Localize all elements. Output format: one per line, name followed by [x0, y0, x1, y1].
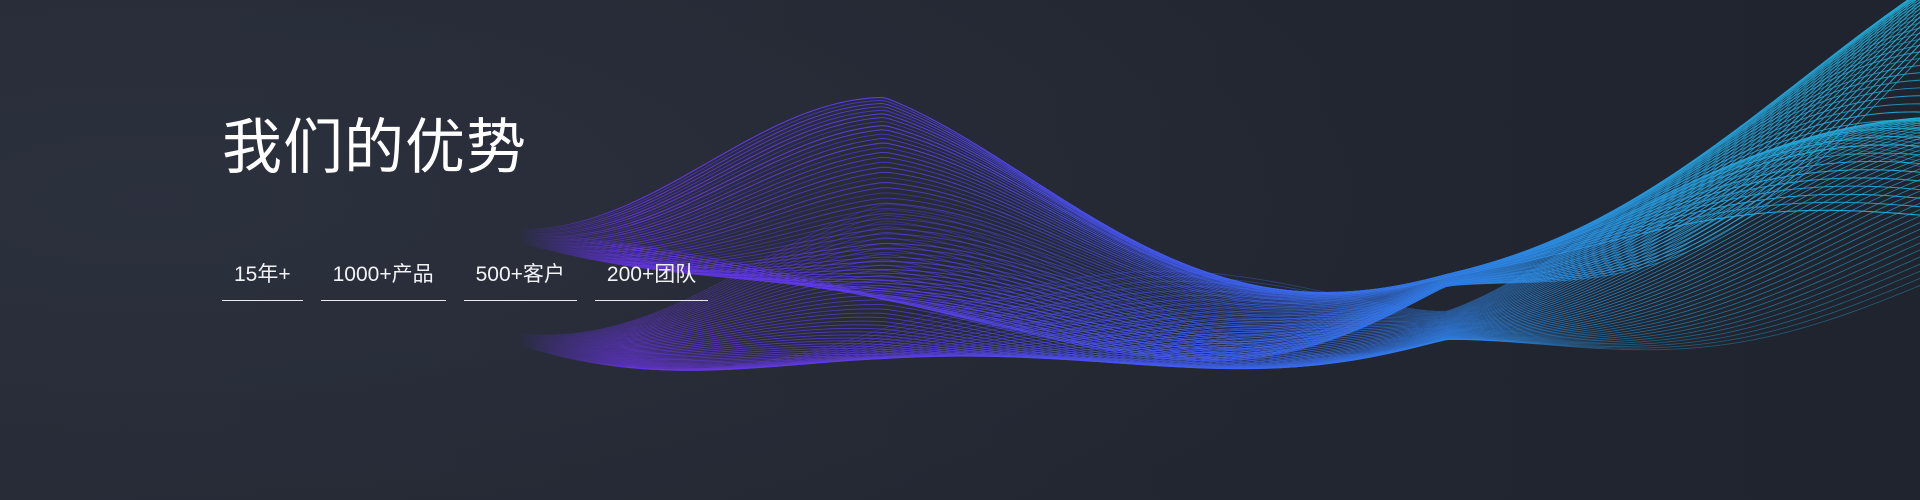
stat-underline: [321, 300, 446, 301]
stat-label: 15年+: [222, 262, 303, 288]
hero-banner: 我们的优势 15年+ 1000+产品 500+客户 200+团队: [0, 0, 1920, 500]
stat-item: 1000+产品: [321, 262, 446, 301]
stat-label: 200+团队: [595, 262, 708, 288]
stat-underline: [222, 300, 303, 301]
stat-item: 500+客户: [464, 262, 577, 301]
stat-item: 15年+: [222, 262, 303, 301]
stat-label: 500+客户: [464, 262, 577, 288]
stat-underline: [595, 300, 708, 301]
stat-underline: [464, 300, 577, 301]
stat-item: 200+团队: [595, 262, 708, 301]
page-title: 我们的优势: [222, 113, 527, 182]
hero-content: 我们的优势 15年+ 1000+产品 500+客户 200+团队: [0, 0, 1920, 500]
stat-label: 1000+产品: [321, 262, 446, 288]
stats-row: 15年+ 1000+产品 500+客户 200+团队: [222, 262, 726, 301]
